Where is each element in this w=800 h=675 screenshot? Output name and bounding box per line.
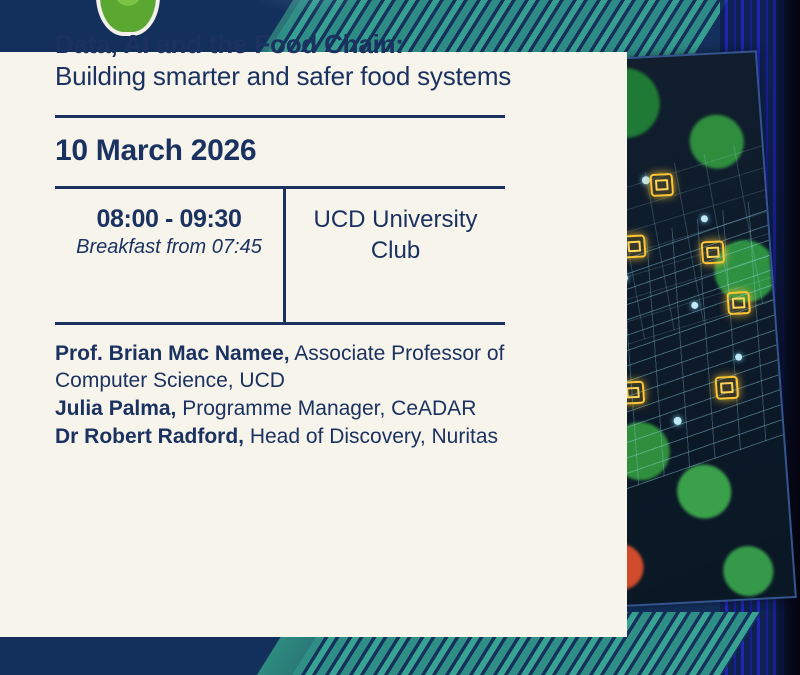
- event-venue: UCD University Club: [286, 205, 505, 265]
- speakers-list: Prof. Brian Mac Namee, Associate Profess…: [55, 341, 515, 451]
- data-chip-icon: [701, 240, 726, 264]
- speaker-name: Prof. Brian Mac Namee,: [55, 342, 290, 365]
- event-date: 10 March 2026: [55, 134, 515, 168]
- data-chip-icon: [649, 173, 674, 197]
- page-title: Data, AI and the Food Chain: Building sm…: [55, 28, 515, 92]
- ghost-watermark: [250, 0, 370, 14]
- event-time: 08:00 - 09:30: [97, 205, 242, 234]
- data-chip-icon: [726, 291, 751, 315]
- speaker-role: Head of Discovery, Nuritas: [244, 425, 498, 448]
- venue-block: UCD University Club: [286, 189, 505, 322]
- speaker-role: Programme Manager, CeADAR: [176, 397, 476, 420]
- title-main: Data, AI and the Food Chain:: [55, 28, 515, 60]
- event-poster: Data, AI and the Food Chain: Building sm…: [0, 0, 800, 675]
- divider-below-details: [55, 322, 505, 325]
- speaker-name: Dr Robert Radford,: [55, 425, 244, 448]
- time-block: 08:00 - 09:30 Breakfast from 07:45: [55, 189, 283, 322]
- title-subtitle: Building smarter and safer food systems: [55, 60, 515, 92]
- breakfast-note: Breakfast from 07:45: [76, 236, 262, 259]
- speaker-item: Prof. Brian Mac Namee, Associate Profess…: [55, 341, 515, 395]
- bottom-green-pill: [300, 662, 560, 675]
- content-card-inner: Data, AI and the Food Chain: Building sm…: [55, 28, 515, 452]
- speaker-name: Julia Palma,: [55, 397, 176, 420]
- shield-inner-circle: [115, 0, 141, 6]
- divider-above-date: [55, 115, 505, 118]
- data-chip-icon: [715, 376, 740, 400]
- speaker-item: Julia Palma, Programme Manager, CeADAR: [55, 396, 515, 423]
- speaker-item: Dr Robert Radford, Head of Discovery, Nu…: [55, 424, 515, 451]
- time-venue-row: 08:00 - 09:30 Breakfast from 07:45 UCD U…: [55, 189, 505, 322]
